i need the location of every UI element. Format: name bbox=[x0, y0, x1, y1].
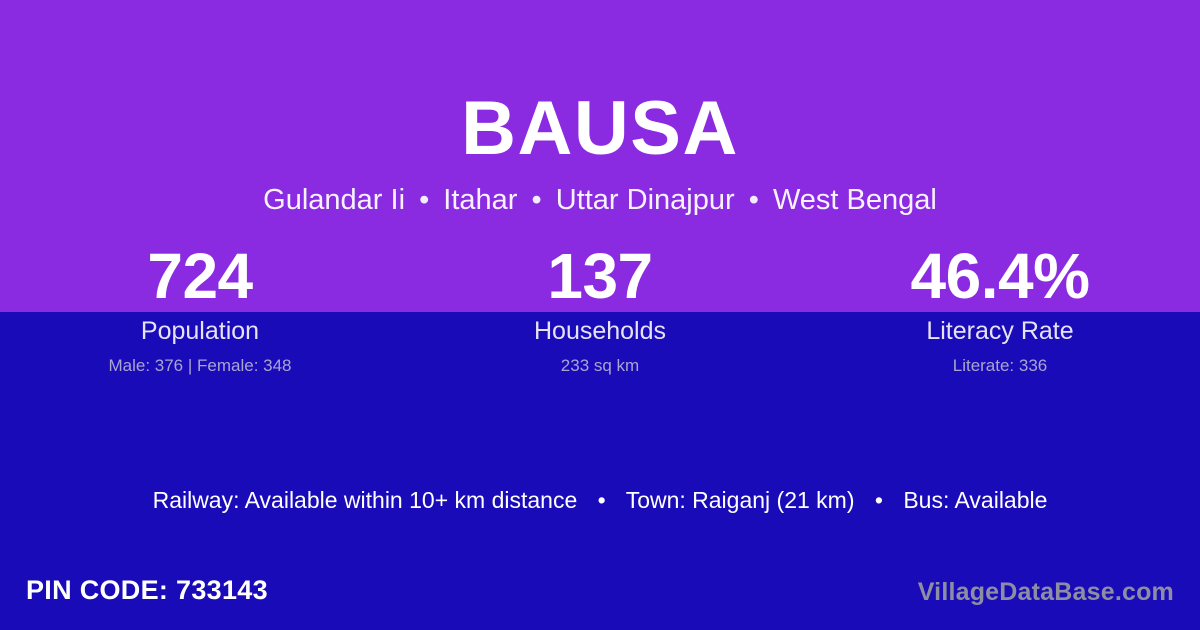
stat-literacy-rate: 46.4% Literacy Rate Literate: 336 bbox=[800, 240, 1200, 377]
stat-population: 724 Population Male: 376 | Female: 348 bbox=[0, 240, 400, 377]
stat-value-population: 724 bbox=[0, 240, 400, 312]
stat-value-households: 137 bbox=[400, 240, 800, 312]
stat-sub-population: Male: 376 | Female: 348 bbox=[0, 355, 400, 377]
stat-households: 137 Households 233 sq km bbox=[400, 240, 800, 377]
stat-sub-households: 233 sq km bbox=[400, 355, 800, 377]
transport-railway: Railway: Available within 10+ km distanc… bbox=[153, 487, 578, 513]
breadcrumb-item-block: Itahar bbox=[443, 184, 517, 216]
card-footer: PIN CODE: 733143 VillageDataBase.com bbox=[0, 572, 1200, 630]
breadcrumb-item-gram-panchayat: Gulandar Ii bbox=[263, 184, 405, 216]
stats-row: 724 Population Male: 376 | Female: 348 1… bbox=[0, 240, 1200, 377]
transport-separator-icon: • bbox=[861, 487, 897, 513]
transport-town: Town: Raiganj (21 km) bbox=[626, 487, 855, 513]
breadcrumb-separator-icon: • bbox=[526, 184, 548, 216]
brand-watermark: VillageDataBase.com bbox=[918, 576, 1174, 608]
transport-separator-icon: • bbox=[584, 487, 620, 513]
page-title: BAUSA bbox=[0, 86, 1200, 172]
stat-label-population: Population bbox=[0, 316, 400, 346]
stat-label-households: Households bbox=[400, 316, 800, 346]
stat-value-literacy-rate: 46.4% bbox=[800, 240, 1200, 312]
breadcrumb: Gulandar Ii • Itahar • Uttar Dinajpur • … bbox=[0, 182, 1200, 218]
village-info-card: BAUSA Gulandar Ii • Itahar • Uttar Dinaj… bbox=[0, 0, 1200, 630]
transport-info: Railway: Available within 10+ km distanc… bbox=[0, 484, 1200, 516]
pin-code: PIN CODE: 733143 bbox=[26, 572, 268, 608]
stat-label-literacy-rate: Literacy Rate bbox=[800, 316, 1200, 346]
breadcrumb-separator-icon: • bbox=[413, 184, 435, 216]
breadcrumb-item-state: West Bengal bbox=[773, 184, 937, 216]
breadcrumb-item-district: Uttar Dinajpur bbox=[556, 184, 735, 216]
transport-bus: Bus: Available bbox=[903, 487, 1047, 513]
stat-sub-literacy-rate: Literate: 336 bbox=[800, 355, 1200, 377]
breadcrumb-separator-icon: • bbox=[743, 184, 765, 216]
